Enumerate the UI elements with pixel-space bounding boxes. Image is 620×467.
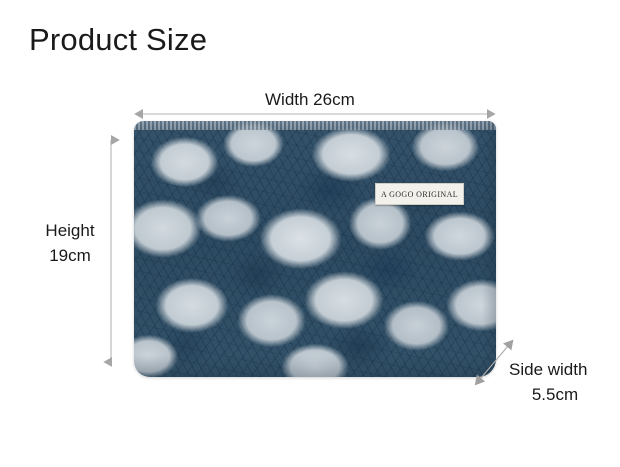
zipper-seam <box>134 121 496 130</box>
side-width-dimension-label: Side width 5.5cm <box>509 358 609 407</box>
height-label-line2: 19cm <box>34 244 106 269</box>
bag-fabric <box>134 121 496 377</box>
side-width-label-line2: 5.5cm <box>509 383 609 408</box>
bag-side-gusset <box>482 121 496 377</box>
brand-tag-label: A GOGO ORIGINAL <box>381 190 458 199</box>
bag-bottom-shadow <box>134 355 496 377</box>
brand-tag: A GOGO ORIGINAL <box>375 183 464 205</box>
width-dimension-label: Width 26cm <box>265 88 355 113</box>
height-label-line1: Height <box>45 221 94 240</box>
height-dimension-label: Height 19cm <box>34 219 106 268</box>
page-title: Product Size <box>29 22 207 58</box>
side-width-label-line1: Side width <box>509 360 587 379</box>
product-size-infographic: Product Size A GOGO ORIGINAL Width 26cm … <box>0 0 620 467</box>
product-image: A GOGO ORIGINAL <box>134 121 496 377</box>
